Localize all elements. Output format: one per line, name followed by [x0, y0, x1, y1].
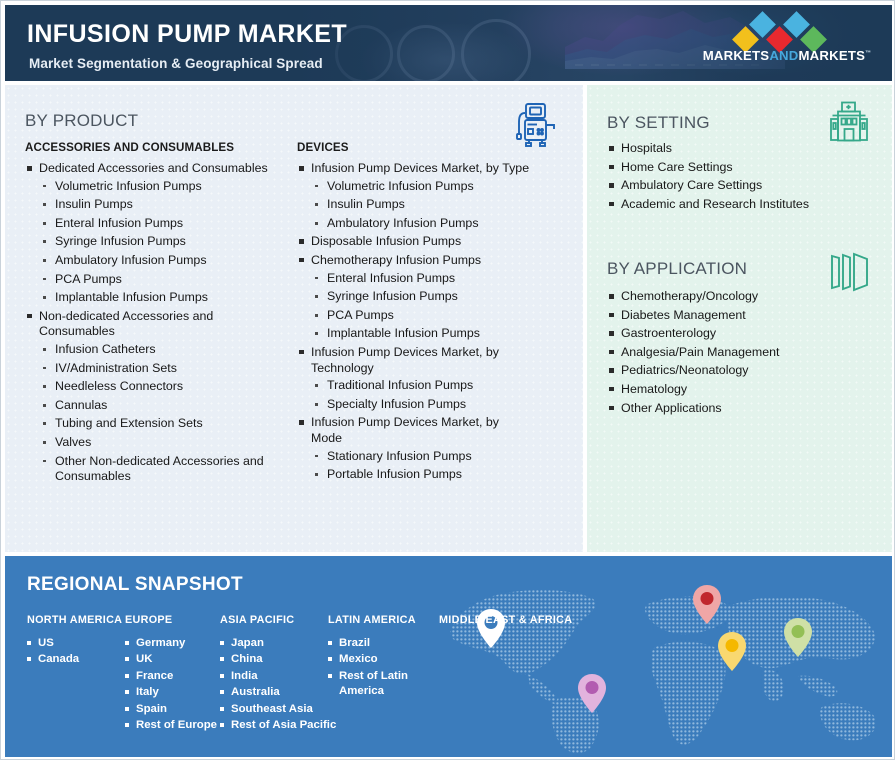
sub-list-item: Portable Infusion Pumps [311, 467, 511, 483]
by-application-title: BY APPLICATION [607, 259, 747, 279]
list-item: Japan [220, 636, 336, 651]
region-asia-pacific: ASIA PACIFIC Japan China India Australia… [220, 614, 336, 734]
region-name: ASIA PACIFIC [220, 614, 336, 626]
list-item: Analgesia/Pain Management [607, 345, 862, 361]
sub-list-item: Enteral Infusion Pumps [39, 216, 290, 232]
logo-text-markets: MARKETS [703, 48, 770, 63]
region-europe: EUROPE Germany UK France Italy Spain Res… [125, 614, 217, 734]
list-item-label: Dedicated Accessories and Consumables [39, 161, 268, 175]
region-country-list: Japan China India Australia Southeast As… [220, 636, 336, 733]
world-map-graphic [432, 570, 892, 756]
sub-list-item: Ambulatory Infusion Pumps [311, 216, 555, 232]
list-item: Non-dedicated Accessories and Consumable… [25, 309, 290, 485]
sub-list-item: Enteral Infusion Pumps [311, 271, 555, 287]
by-setting-list: Hospitals Home Care Settings Ambulatory … [607, 141, 862, 215]
list-item: Italy [125, 685, 217, 700]
list-item: Southeast Asia [220, 702, 336, 717]
sub-list-item: Insulin Pumps [39, 197, 290, 213]
list-item: Canada [27, 652, 122, 667]
list-item: Chemotherapy/Oncology [607, 289, 862, 305]
devices-heading: DEVICES [297, 141, 555, 154]
region-north-america: NORTH AMERICA US Canada [27, 614, 122, 669]
accessories-column: ACCESSORIES AND CONSUMABLES Dedicated Ac… [25, 141, 290, 488]
by-application-list: Chemotherapy/Oncology Diabetes Managemen… [607, 289, 862, 419]
list-item: Infusion Pump Devices Market, by Type Vo… [297, 161, 555, 231]
sub-list: Stationary Infusion Pumps Portable Infus… [311, 449, 511, 483]
sub-list-item: Volumetric Infusion Pumps [311, 179, 555, 195]
sub-list-item: Stationary Infusion Pumps [311, 449, 511, 465]
list-item-label: Infusion Pump Devices Market, by Technol… [311, 345, 499, 375]
sub-list-item: Syringe Infusion Pumps [311, 289, 555, 305]
sub-list: Volumetric Infusion Pumps Insulin Pumps … [311, 179, 555, 232]
sub-list-item: PCA Pumps [311, 308, 555, 324]
sub-list: Volumetric Infusion Pumps Insulin Pumps … [39, 179, 290, 306]
region-name: EUROPE [125, 614, 217, 626]
region-middle-east-africa-label: MIDDLE EAST & AFRICA [439, 614, 572, 626]
list-item: Rest of Latin America [328, 669, 420, 700]
list-item: Infusion Pump Devices Market, by Mode St… [297, 415, 511, 482]
region-country-list: US Canada [27, 636, 122, 668]
sub-list-item: Tubing and Extension Sets [39, 416, 290, 432]
logo-trademark: ™ [865, 51, 871, 57]
list-item: Germany [125, 636, 217, 651]
list-item-label: Non-dedicated Accessories and Consumable… [39, 309, 213, 339]
list-item: India [220, 669, 336, 684]
sub-list-item: Infusion Catheters [39, 342, 290, 358]
sub-list-item: Needleless Connectors [39, 379, 290, 395]
list-item: China [220, 652, 336, 667]
region-country-list: Germany UK France Italy Spain Rest of Eu… [125, 636, 217, 733]
hospital-building-icon [827, 101, 871, 143]
sub-list-item: IV/Administration Sets [39, 361, 290, 377]
list-item: Rest of Europe [125, 718, 217, 733]
list-item: Hospitals [607, 141, 862, 157]
sub-list-item: Insulin Pumps [311, 197, 555, 213]
sub-list-item: Other Non-dedicated Accessories and Cons… [39, 454, 290, 485]
sub-list-item: Ambulatory Infusion Pumps [39, 253, 290, 269]
sub-list: Enteral Infusion Pumps Syringe Infusion … [311, 271, 555, 342]
list-item: Infusion Pump Devices Market, by Technol… [297, 345, 511, 412]
page-subtitle: Market Segmentation & Geographical Sprea… [29, 56, 323, 71]
regional-snapshot-title: REGIONAL SNAPSHOT [27, 574, 243, 596]
list-item: Ambulatory Care Settings [607, 178, 862, 194]
list-item: Gastroenterology [607, 326, 862, 342]
sub-list-item: Implantable Infusion Pumps [311, 326, 555, 342]
list-item: Pediatrics/Neonatology [607, 363, 862, 379]
sub-list: Infusion Catheters IV/Administration Set… [39, 342, 290, 485]
logo-text-markets-2: MARKETS [798, 48, 865, 63]
region-name: NORTH AMERICA [27, 614, 122, 626]
accessories-heading: ACCESSORIES AND CONSUMABLES [25, 141, 290, 154]
list-item: Brazil [328, 636, 420, 651]
list-item: Rest of Asia Pacific [220, 718, 336, 733]
sub-list-item: Implantable Infusion Pumps [39, 290, 290, 306]
list-item-label: Chemotherapy Infusion Pumps [311, 253, 481, 267]
list-item: US [27, 636, 122, 651]
sub-list: Traditional Infusion Pumps Specialty Inf… [311, 378, 511, 412]
list-item: Academic and Research Institutes [607, 197, 862, 213]
list-item: Hematology [607, 382, 862, 398]
list-item: Mexico [328, 652, 420, 667]
list-item: UK [125, 652, 217, 667]
region-latin-america: LATIN AMERICA Brazil Mexico Rest of Lati… [328, 614, 420, 701]
list-item: Australia [220, 685, 336, 700]
logo-diamonds [698, 15, 876, 45]
logo-wordmark: MARKETSANDMARKETS™ [698, 48, 876, 63]
by-product-title: BY PRODUCT [25, 111, 138, 131]
marketsandmarkets-logo[interactable]: MARKETSANDMARKETS™ [698, 15, 876, 73]
page-title: INFUSION PUMP MARKET [27, 20, 347, 49]
page-header: INFUSION PUMP MARKET Market Segmentation… [5, 5, 892, 81]
list-item-label: Infusion Pump Devices Market, by Type [311, 161, 529, 175]
by-setting-title: BY SETTING [607, 113, 710, 133]
list-item-label: Infusion Pump Devices Market, by Mode [311, 415, 499, 445]
application-items: Chemotherapy/Oncology Diabetes Managemen… [607, 289, 862, 416]
sub-list-item: Cannulas [39, 398, 290, 414]
infographic-page: INFUSION PUMP MARKET Market Segmentation… [0, 0, 895, 760]
sub-list-item: Traditional Infusion Pumps [311, 378, 511, 394]
list-item: Chemotherapy Infusion Pumps Enteral Infu… [297, 253, 555, 342]
sub-list-item: PCA Pumps [39, 272, 290, 288]
accessories-list: Dedicated Accessories and Consumables Vo… [25, 161, 290, 485]
logo-text-and: AND [769, 48, 798, 63]
list-item: Dedicated Accessories and Consumables Vo… [25, 161, 290, 306]
sub-list-item: Syringe Infusion Pumps [39, 234, 290, 250]
regional-snapshot-panel: REGIONAL SNAPSHOT NORTH AMERICA US Canad… [5, 556, 892, 757]
list-item: France [125, 669, 217, 684]
list-item: Spain [125, 702, 217, 717]
setting-items: Hospitals Home Care Settings Ambulatory … [607, 141, 862, 212]
region-country-list: Brazil Mexico Rest of Latin America [328, 636, 420, 700]
devices-column: DEVICES Infusion Pump Devices Market, by… [297, 141, 555, 486]
list-item: Diabetes Management [607, 308, 862, 324]
region-name: LATIN AMERICA [328, 614, 420, 626]
devices-list: Infusion Pump Devices Market, by Type Vo… [297, 161, 555, 483]
list-item: Home Care Settings [607, 160, 862, 176]
list-item: Other Applications [607, 401, 862, 417]
sub-list-item: Volumetric Infusion Pumps [39, 179, 290, 195]
sub-list-item: Specialty Infusion Pumps [311, 397, 511, 413]
list-item: Disposable Infusion Pumps [297, 234, 555, 250]
sub-list-item: Valves [39, 435, 290, 451]
